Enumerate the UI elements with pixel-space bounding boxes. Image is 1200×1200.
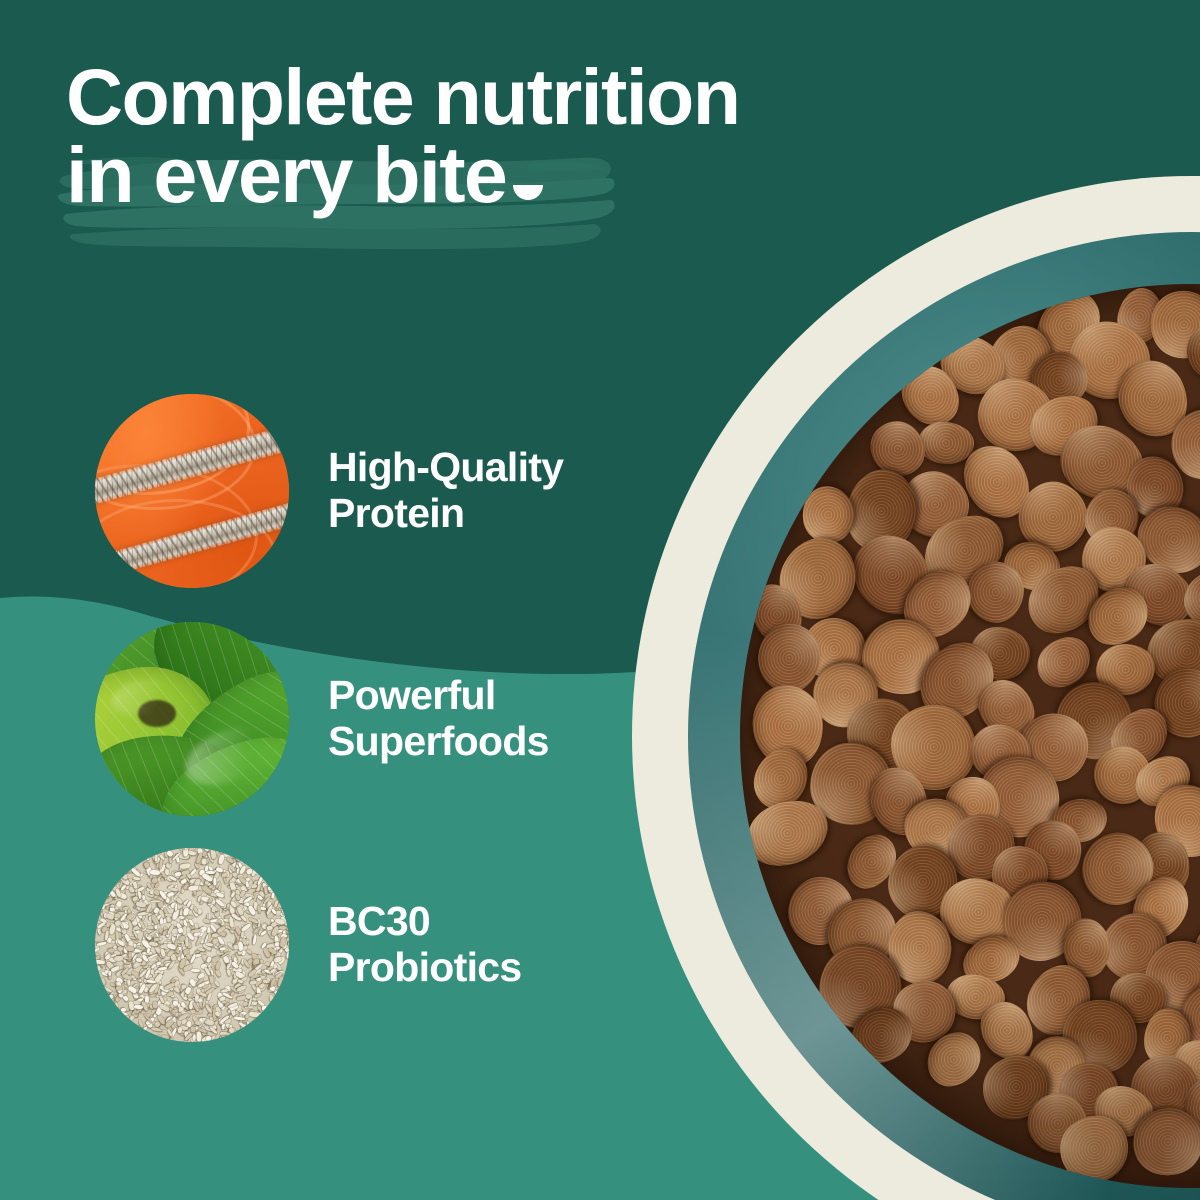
feature-item-probiotics: BC30 Probiotics [95,848,655,1042]
headline-line-2: in every bite [66,130,506,219]
feature-item-protein: High-Quality Protein [95,394,655,588]
salmon-fillet-icon [95,394,289,588]
promo-banner: Complete nutrition in every bite High-Qu… [0,0,1200,1200]
feature-item-superfoods: Powerful Superfoods [95,622,655,816]
spinach-leaves-icon [95,622,289,816]
feature-label-probiotics: BC30 Probiotics [328,899,521,991]
dog-food-bowl-photo [632,176,1200,1200]
kibble-pile [740,284,1200,1188]
page-title: Complete nutrition in every bite [66,58,926,214]
feature-label-protein: High-Quality Protein [328,445,563,537]
granule-field [95,848,289,1042]
half-moon-period-icon [513,185,543,200]
probiotic-granules-icon [95,848,289,1042]
headline-line-2-wrap: in every bite [66,136,926,214]
bowl-interior [740,284,1200,1188]
headline-line-1: Complete nutrition [66,58,926,136]
feature-label-superfoods: Powerful Superfoods [328,673,549,765]
